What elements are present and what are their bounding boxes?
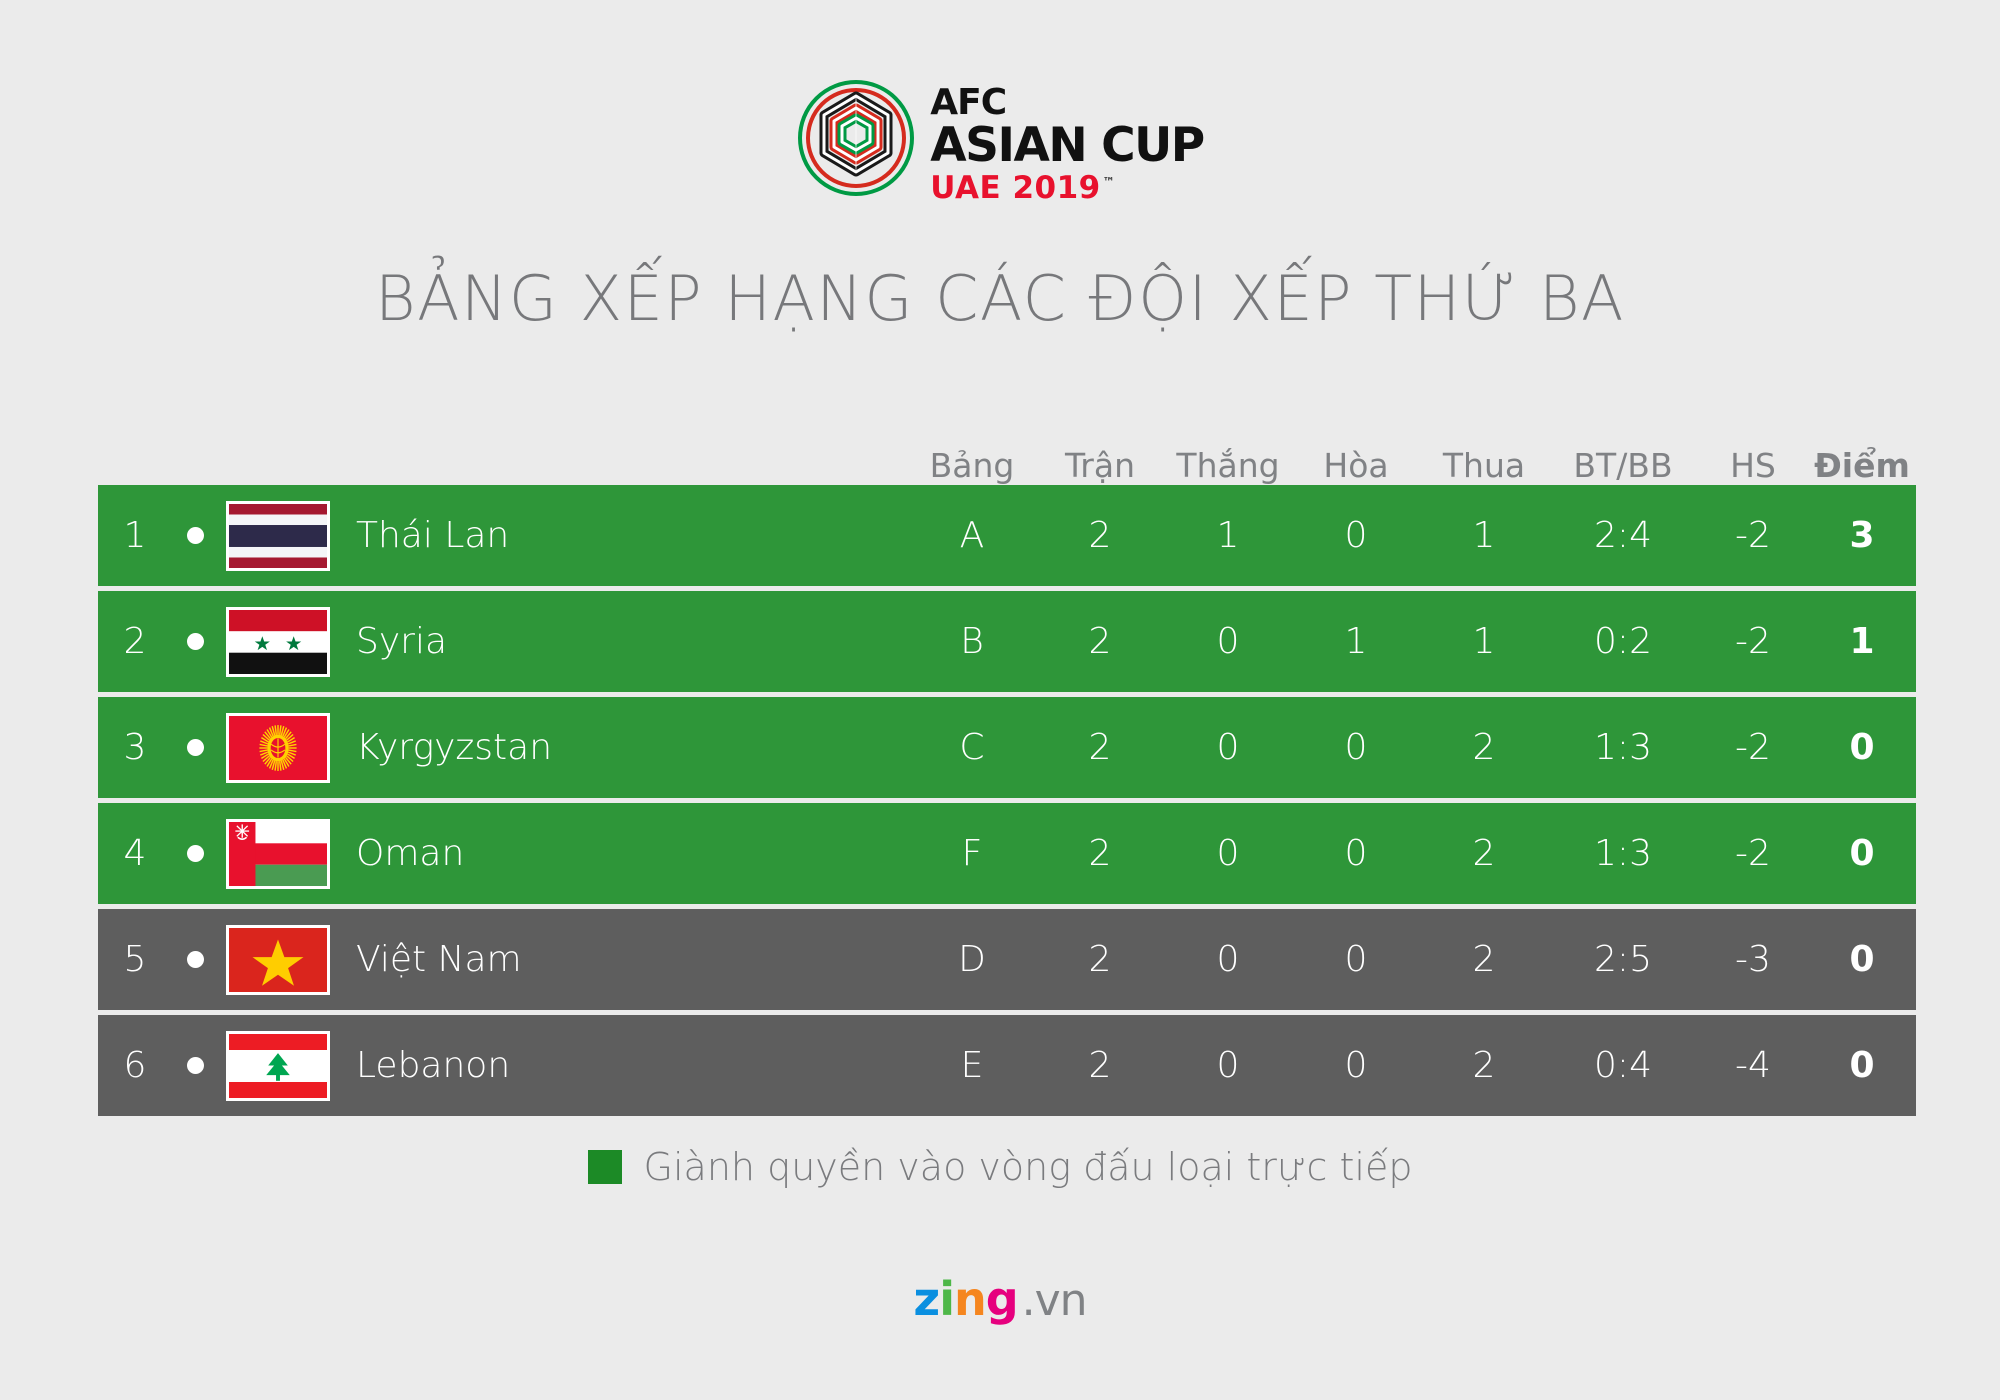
row-rank: 1	[98, 515, 172, 556]
page-title: BẢNG XẾP HẠNG CÁC ĐỘI XẾP THỨ BA	[0, 262, 2000, 335]
bullet-dot-icon	[187, 527, 204, 544]
table-row[interactable]: 2 SyriaB20110:2-21	[98, 591, 1916, 692]
row-group: B	[908, 621, 1036, 662]
legend-swatch-qualified	[588, 1150, 622, 1184]
logo-line-uae-2019: UAE 2019™	[930, 173, 1203, 204]
row-lost: 2	[1420, 727, 1548, 768]
table-row[interactable]: 6 LebanonE20020:4-40	[98, 1015, 1916, 1116]
logo-line-asian-cup: ASIAN CUP	[930, 122, 1203, 169]
row-lost: 2	[1420, 833, 1548, 874]
row-drawn: 0	[1292, 833, 1420, 874]
row-goal-difference: -2	[1698, 727, 1808, 768]
standings-table: Bảng Trận Thắng Hòa Thua BT/BB HS Điểm 1…	[98, 425, 1916, 1121]
row-rank: 3	[98, 727, 172, 768]
flag-box	[226, 607, 330, 677]
bullet-dot-icon	[187, 633, 204, 650]
row-goal-difference: -3	[1698, 939, 1808, 980]
zing-letter-g: g	[986, 1272, 1018, 1326]
row-goal-difference: -4	[1698, 1045, 1808, 1086]
row-played: 2	[1036, 833, 1164, 874]
row-won: 0	[1164, 1045, 1292, 1086]
flag-syria-icon	[218, 607, 338, 677]
header-goal-difference: HS	[1698, 446, 1808, 485]
legend-label-qualified: Giành quyền vào vòng đấu loại trực tiếp	[644, 1145, 1413, 1189]
zing-logo: zing.vn	[913, 1272, 1086, 1326]
row-lost: 1	[1420, 621, 1548, 662]
row-points: 0	[1808, 727, 1916, 768]
row-won: 1	[1164, 515, 1292, 556]
header-drawn: Hòa	[1292, 446, 1420, 485]
row-rank: 2	[98, 621, 172, 662]
row-bullet-icon	[172, 951, 218, 968]
row-played: 2	[1036, 621, 1164, 662]
flag-box	[226, 501, 330, 571]
flag-box	[226, 925, 330, 995]
row-goals: 0:4	[1548, 1045, 1698, 1086]
flag-lebanon-icon	[218, 1031, 338, 1101]
row-bullet-icon	[172, 739, 218, 756]
row-bullet-icon	[172, 1057, 218, 1074]
table-row[interactable]: 1 Thái LanA21012:4-23	[98, 485, 1916, 586]
row-points: 0	[1808, 939, 1916, 980]
row-won: 0	[1164, 621, 1292, 662]
flag-kyrgyzstan-icon	[218, 713, 338, 783]
row-team-name: Lebanon	[338, 1045, 908, 1086]
bullet-dot-icon	[187, 1057, 204, 1074]
row-team-name: Việt Nam	[338, 939, 908, 980]
footer-branding: zing.vn	[0, 1272, 2000, 1326]
row-group: E	[908, 1045, 1036, 1086]
row-drawn: 0	[1292, 939, 1420, 980]
row-lost: 2	[1420, 939, 1548, 980]
row-drawn: 0	[1292, 1045, 1420, 1086]
afc-logo-wordmark: AFC ASIAN CUP UAE 2019™	[930, 78, 1203, 204]
row-points: 0	[1808, 1045, 1916, 1086]
trademark-icon: ™	[1103, 175, 1116, 189]
row-points: 1	[1808, 621, 1916, 662]
header-group: Bảng	[908, 446, 1036, 485]
row-group: C	[908, 727, 1036, 768]
row-bullet-icon	[172, 527, 218, 544]
bullet-dot-icon	[187, 739, 204, 756]
row-group: F	[908, 833, 1036, 874]
afc-asian-cup-emblem-icon	[796, 78, 916, 198]
row-goals: 2:4	[1548, 515, 1698, 556]
flag-box	[226, 819, 330, 889]
row-points: 3	[1808, 515, 1916, 556]
row-won: 0	[1164, 727, 1292, 768]
row-played: 2	[1036, 515, 1164, 556]
row-won: 0	[1164, 833, 1292, 874]
row-goal-difference: -2	[1698, 515, 1808, 556]
flag-thailand-icon	[218, 501, 338, 571]
row-lost: 1	[1420, 515, 1548, 556]
row-team-name: Oman	[338, 833, 908, 874]
row-drawn: 0	[1292, 727, 1420, 768]
table-header-row: Bảng Trận Thắng Hòa Thua BT/BB HS Điểm	[98, 425, 1916, 485]
header-goals: BT/BB	[1548, 446, 1698, 485]
row-goals: 1:3	[1548, 833, 1698, 874]
table-row[interactable]: 5 Việt NamD20022:5-30	[98, 909, 1916, 1010]
row-bullet-icon	[172, 845, 218, 862]
legend: Giành quyền vào vòng đấu loại trực tiếp	[0, 1145, 2000, 1189]
row-rank: 5	[98, 939, 172, 980]
zing-letter-n: n	[954, 1272, 986, 1326]
row-group: D	[908, 939, 1036, 980]
flag-oman-icon	[218, 819, 338, 889]
row-lost: 2	[1420, 1045, 1548, 1086]
row-rank: 6	[98, 1045, 172, 1086]
table-body: 1 Thái LanA21012:4-232 SyriaB20110:2-213	[98, 485, 1916, 1116]
row-bullet-icon	[172, 633, 218, 650]
flag-vietnam-icon	[218, 925, 338, 995]
row-played: 2	[1036, 939, 1164, 980]
header-points: Điểm	[1808, 446, 1916, 485]
zing-tld: .vn	[1022, 1275, 1087, 1326]
logo-line-afc: AFC	[930, 86, 1203, 121]
bullet-dot-icon	[187, 845, 204, 862]
header-played: Trận	[1036, 446, 1164, 485]
table-row[interactable]: 3 KyrgyzstanC20021:3-20	[98, 697, 1916, 798]
row-drawn: 1	[1292, 621, 1420, 662]
zing-letter-z: z	[913, 1272, 939, 1326]
row-goal-difference: -2	[1698, 621, 1808, 662]
flag-box	[226, 713, 330, 783]
row-rank: 4	[98, 833, 172, 874]
row-goal-difference: -2	[1698, 833, 1808, 874]
table-row[interactable]: 4 OmanF20021:3-20	[98, 803, 1916, 904]
row-team-name: Thái Lan	[338, 515, 908, 556]
row-drawn: 0	[1292, 515, 1420, 556]
row-points: 0	[1808, 833, 1916, 874]
row-won: 0	[1164, 939, 1292, 980]
row-goals: 1:3	[1548, 727, 1698, 768]
bullet-dot-icon	[187, 951, 204, 968]
afc-logo-block: AFC ASIAN CUP UAE 2019™	[0, 78, 2000, 204]
row-team-name: Kyrgyzstan	[338, 727, 908, 768]
header-lost: Thua	[1420, 446, 1548, 485]
flag-box	[226, 1031, 330, 1101]
row-played: 2	[1036, 1045, 1164, 1086]
zing-letter-i: i	[939, 1272, 954, 1326]
logo-uae-text: UAE 2019	[930, 170, 1100, 206]
row-played: 2	[1036, 727, 1164, 768]
row-goals: 0:2	[1548, 621, 1698, 662]
header-won: Thắng	[1164, 446, 1292, 485]
row-team-name: Syria	[338, 621, 908, 662]
row-goals: 2:5	[1548, 939, 1698, 980]
row-group: A	[908, 515, 1036, 556]
